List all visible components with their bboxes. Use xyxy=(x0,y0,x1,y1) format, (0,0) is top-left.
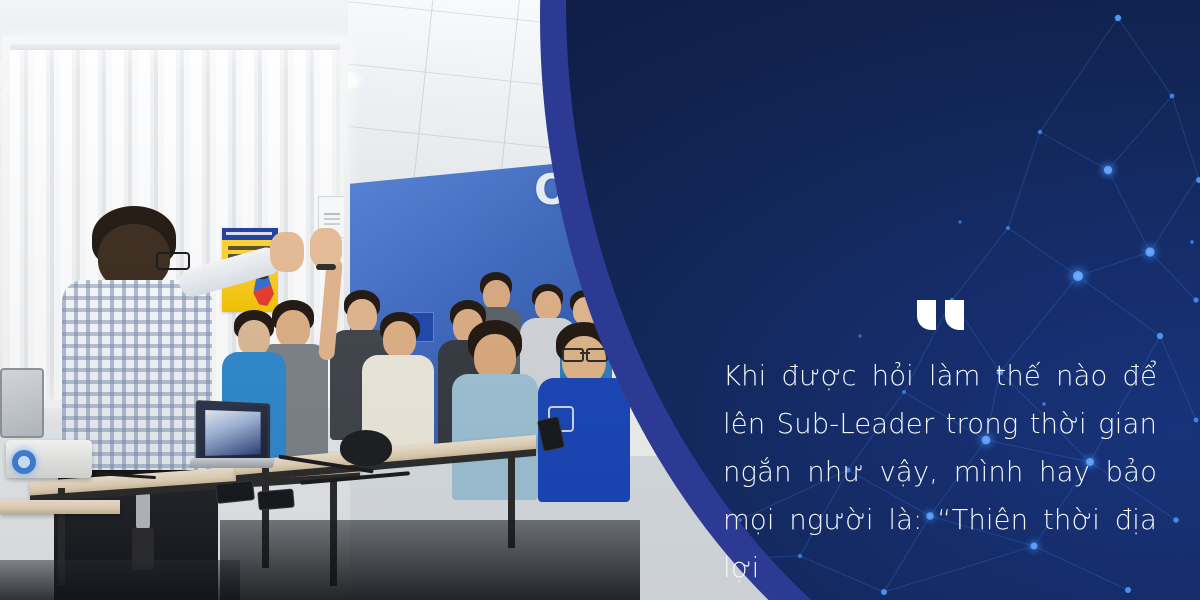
quote-block: Khi được hỏi làm thế nào để lên Sub-Lead… xyxy=(723,300,1157,600)
quote-text: Khi được hỏi làm thế nào để lên Sub-Lead… xyxy=(723,352,1157,600)
smartphone xyxy=(257,488,295,510)
laptop-base xyxy=(189,458,275,468)
eyeglasses-icon xyxy=(562,348,608,358)
audience-person-front xyxy=(452,320,538,500)
headset xyxy=(340,430,392,466)
instructor-raised-arm xyxy=(178,232,308,302)
quote-line: mọi người là: “Thiên thời địa lợi xyxy=(723,496,1157,592)
chairs-foreground xyxy=(220,520,640,600)
projector-lens-icon xyxy=(12,450,36,474)
quote-mark-icon xyxy=(723,300,1157,346)
quote-card: MYƎϽO the bar xyxy=(0,0,1200,600)
wall-fan-icon xyxy=(596,2,706,98)
raised-hand xyxy=(310,228,344,360)
quote-line: Khi được hỏi làm thế nào để xyxy=(723,352,1157,400)
wall-logo-tagline: the bar xyxy=(500,218,740,236)
monitor xyxy=(0,368,44,438)
quote-line: nhân hòa thôi!” xyxy=(723,592,1157,600)
quote-line: ngắn như vậy, mình hay bảo xyxy=(723,448,1157,496)
smartphone xyxy=(215,480,255,504)
desk xyxy=(0,500,120,514)
floor-foreground xyxy=(0,560,240,600)
quote-line: lên Sub-Leader trong thời gian xyxy=(723,400,1157,448)
